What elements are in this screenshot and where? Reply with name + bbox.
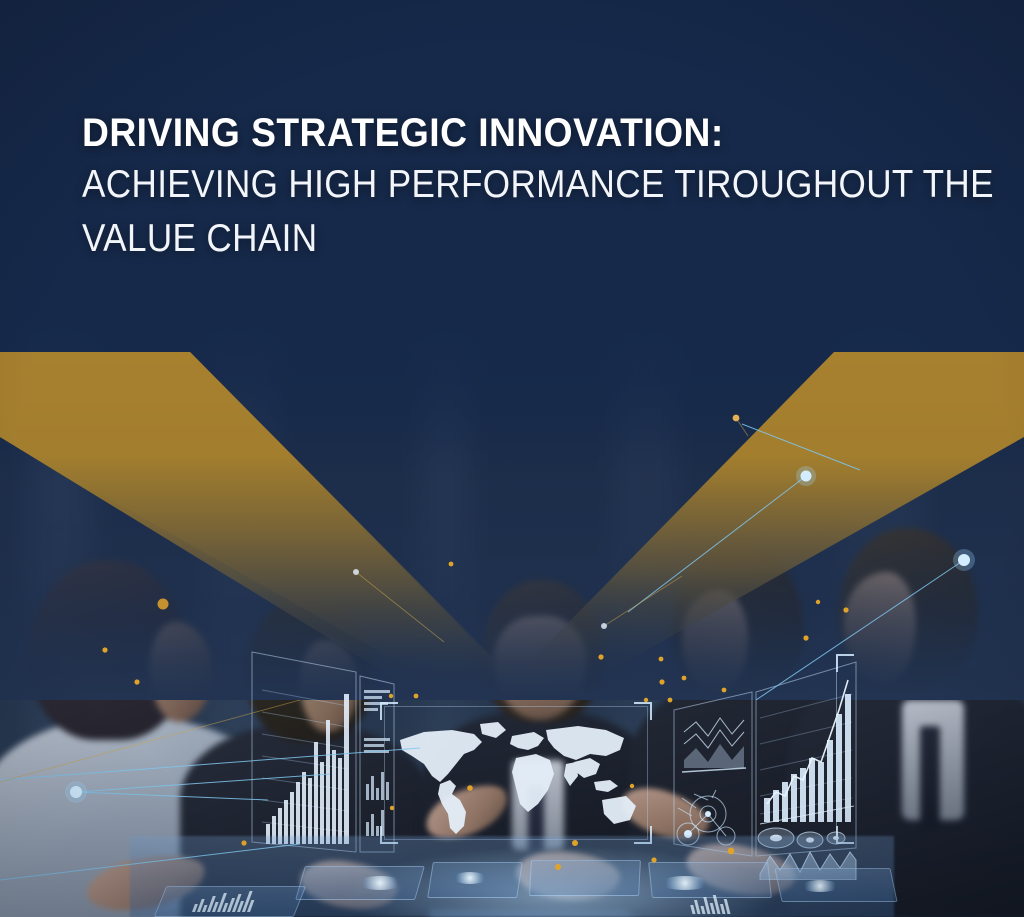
headline-line-1: DRIVING STRATEGIC INNOVATION: [82,108,900,158]
headline-line-3: VALUE CHAIN [82,212,874,266]
headline-line-2: ACHIEVING HIGH PERFORMANCE TIROUGHOUT TH… [82,158,874,212]
poster-canvas: DRIVING STRATEGIC INNOVATION: ACHIEVING … [0,0,1024,917]
gold-accent-dots [102,562,848,870]
headline-block: DRIVING STRATEGIC INNOVATION: ACHIEVING … [82,108,962,266]
network-nodes [65,415,975,803]
